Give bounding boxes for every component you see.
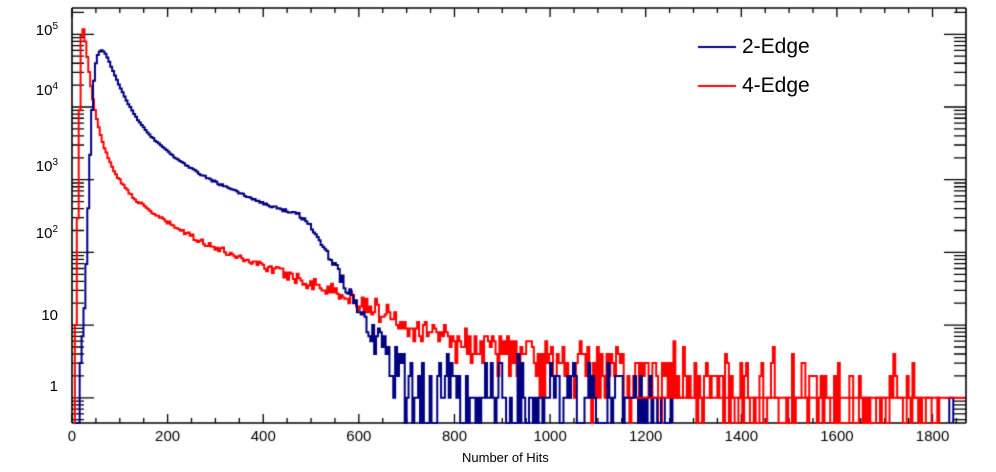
y-tick-label-10: 10: [12, 307, 58, 324]
y-tick-label-1000: 103: [12, 158, 58, 175]
y-tick-label-100000: 105: [12, 22, 58, 39]
y-tick-exponent-4: 4: [52, 81, 58, 92]
y-tick-label-1: 1: [12, 378, 58, 395]
histogram-plot-canvas: [0, 0, 996, 472]
y-tick-exponent-3: 3: [52, 157, 58, 168]
legend-label-2-edge: 2-Edge: [742, 35, 810, 59]
x-axis-title: Number of Hits: [462, 450, 549, 465]
y-tick-label-10000: 104: [12, 82, 58, 99]
y-tick-exponent-2: 2: [52, 224, 58, 235]
y-tick-label-100: 102: [12, 225, 58, 242]
y-tick-exponent-5: 5: [52, 21, 58, 32]
chart-root: 1 10 102 103 104 105 Number of Hits 2-Ed…: [0, 0, 996, 472]
legend-label-4-edge: 4-Edge: [742, 74, 810, 98]
